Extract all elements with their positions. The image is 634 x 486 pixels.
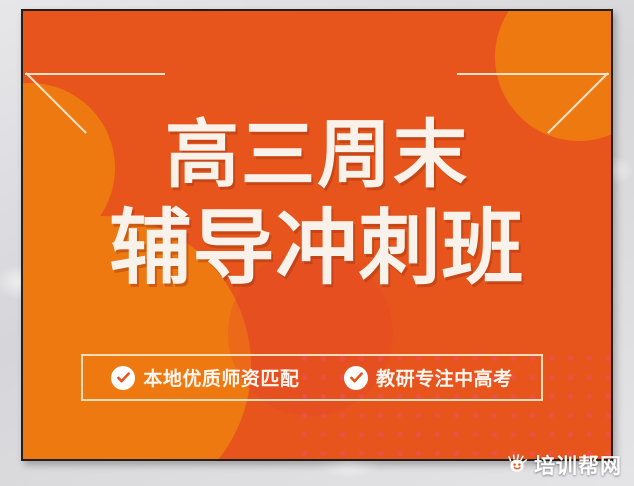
decorative-circle-bottom-left bbox=[23, 216, 251, 459]
check-circle-icon bbox=[344, 366, 368, 390]
feature-item-2: 教研专注中高考 bbox=[344, 364, 513, 391]
headline-line-2: 辅导冲刺班 bbox=[23, 201, 611, 297]
watermark-text: 培训帮网 bbox=[534, 450, 622, 480]
bracket-diagonal-rule bbox=[25, 72, 87, 134]
decorative-circle-top-left bbox=[23, 83, 115, 253]
feature-box: 本地优质师资匹配 教研专注中高考 bbox=[81, 354, 543, 401]
poster-screenshot: 高三周末 辅导冲刺班 本地优质师资匹配 bbox=[0, 0, 634, 486]
bracket-horizontal-rule bbox=[25, 73, 165, 75]
poster-canvas: 高三周末 辅导冲刺班 本地优质师资匹配 bbox=[23, 11, 611, 459]
watermark: 培训帮网 bbox=[500, 448, 628, 482]
bracket-horizontal-rule bbox=[457, 73, 609, 75]
bracket-diagonal-rule bbox=[547, 72, 609, 134]
check-circle-icon bbox=[111, 366, 135, 390]
feature-label-1: 本地优质师资匹配 bbox=[143, 364, 299, 391]
feature-label-2: 教研专注中高考 bbox=[376, 364, 513, 391]
decorative-circle-top-right bbox=[495, 11, 611, 141]
headline: 高三周末 辅导冲刺班 bbox=[23, 109, 611, 297]
poster-frame: 高三周末 辅导冲刺班 本地优质师资匹配 bbox=[21, 9, 613, 461]
feature-item-1: 本地优质师资匹配 bbox=[111, 364, 299, 391]
headline-line-1: 高三周末 bbox=[23, 109, 611, 201]
sun-face-icon bbox=[506, 454, 528, 476]
